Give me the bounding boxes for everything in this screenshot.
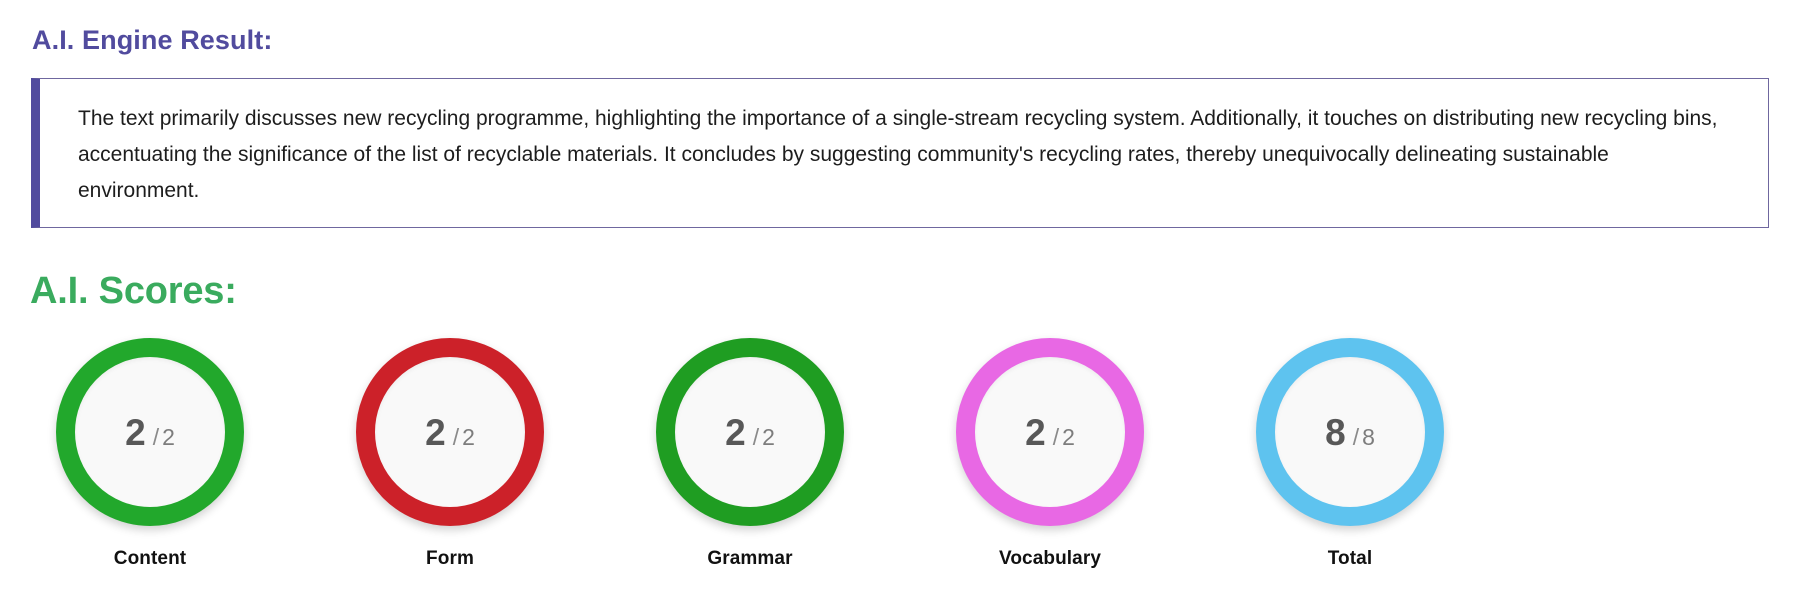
score-value: 2/2 <box>725 414 775 451</box>
score-item: 2/2Form <box>300 338 600 570</box>
score-separator: / <box>453 426 459 449</box>
score-separator: / <box>753 426 759 449</box>
score-value: 2/2 <box>125 414 175 451</box>
score-label: Total <box>1328 548 1372 570</box>
score-item: 2/2Grammar <box>600 338 900 570</box>
score-max: 2 <box>162 426 175 449</box>
score-value: 8/8 <box>1325 414 1375 451</box>
score-number: 2 <box>425 414 446 451</box>
score-value: 2/2 <box>1025 414 1075 451</box>
score-ring-content: 2/2 <box>56 338 244 526</box>
engine-result-box: The text primarily discusses new recycli… <box>31 78 1769 228</box>
engine-result-text: The text primarily discusses new recycli… <box>78 101 1726 209</box>
score-number: 2 <box>725 414 746 451</box>
score-ring-grammar: 2/2 <box>656 338 844 526</box>
score-ring-vocabulary: 2/2 <box>956 338 1144 526</box>
engine-result-heading: A.I. Engine Result: <box>32 24 272 56</box>
score-item: 2/2Vocabulary <box>900 338 1200 570</box>
ai-result-page: A.I. Engine Result: The text primarily d… <box>0 0 1800 600</box>
score-number: 2 <box>125 414 146 451</box>
score-label: Vocabulary <box>999 548 1101 570</box>
score-separator: / <box>1353 426 1359 449</box>
score-label: Grammar <box>707 548 792 570</box>
scores-row: 2/2Content2/2Form2/2Grammar2/2Vocabulary… <box>0 338 1500 578</box>
score-separator: / <box>153 426 159 449</box>
score-number: 8 <box>1325 414 1346 451</box>
score-label: Content <box>114 548 186 570</box>
score-separator: / <box>1053 426 1059 449</box>
score-item: 8/8Total <box>1200 338 1500 570</box>
score-number: 2 <box>1025 414 1046 451</box>
scores-heading: A.I. Scores: <box>30 272 237 312</box>
score-max: 2 <box>462 426 475 449</box>
score-label: Form <box>426 548 474 570</box>
score-max: 2 <box>762 426 775 449</box>
score-ring-form: 2/2 <box>356 338 544 526</box>
score-max: 2 <box>1062 426 1075 449</box>
score-ring-total: 8/8 <box>1256 338 1444 526</box>
score-max: 8 <box>1362 426 1375 449</box>
score-value: 2/2 <box>425 414 475 451</box>
score-item: 2/2Content <box>0 338 300 570</box>
